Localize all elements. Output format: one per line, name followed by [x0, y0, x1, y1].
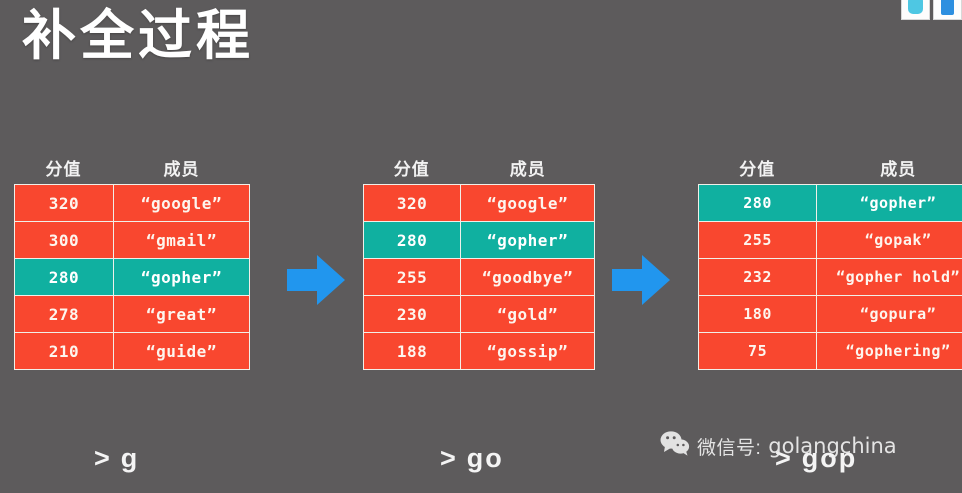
table-row[interactable]: 255 “goodbye” — [364, 259, 595, 296]
cell-score: 320 — [364, 185, 461, 222]
cell-score: 232 — [699, 259, 817, 296]
cell-member: “great” — [113, 296, 249, 333]
table-row[interactable]: 75 “gophering” — [699, 333, 962, 370]
cell-score: 320 — [15, 185, 114, 222]
cell-score: 180 — [699, 296, 817, 333]
table-row[interactable]: 210 “guide” — [15, 333, 250, 370]
table-row[interactable]: 320 “google” — [364, 185, 595, 222]
slide-canvas: 补全过程 分值 成员 320 “google” 300 “gmail” 280 — [0, 0, 962, 493]
table-row[interactable]: 230 “gold” — [364, 296, 595, 333]
table-row-highlighted[interactable]: 280 “gopher” — [364, 222, 595, 259]
result-panel-3: 分值 成员 280 “gopher” 255 “gopak” 232 “goph… — [698, 150, 962, 370]
cell-member: “gopak” — [817, 222, 962, 259]
column-headers: 分值 成员 — [14, 150, 250, 184]
cell-member: “gopher” — [113, 259, 249, 296]
cell-member: “gopher” — [461, 222, 595, 259]
column-headers: 分值 成员 — [363, 150, 595, 184]
table-row[interactable]: 300 “gmail” — [15, 222, 250, 259]
cell-member: “goodbye” — [461, 259, 595, 296]
query-text: g — [121, 443, 140, 473]
cell-score: 280 — [15, 259, 114, 296]
app-chip-glyph-blue — [941, 0, 954, 15]
wechat-account: golangchina — [768, 434, 896, 458]
column-header-member: 成员 — [113, 155, 250, 180]
cell-member: “google” — [113, 185, 249, 222]
prompt-chevron: > — [440, 443, 458, 473]
table-row[interactable]: 320 “google” — [15, 185, 250, 222]
cell-score: 75 — [699, 333, 817, 370]
column-header-member: 成员 — [460, 155, 595, 180]
table-row[interactable]: 232 “gopher hold” — [699, 259, 962, 296]
results-table: 320 “google” 280 “gopher” 255 “goodbye” … — [363, 184, 595, 370]
query-caption-2: >go — [440, 443, 504, 474]
wechat-watermark: 微信号: golangchina — [660, 430, 897, 462]
wechat-icon — [660, 430, 690, 462]
table-row-highlighted[interactable]: 280 “gopher” — [699, 185, 962, 222]
cell-score: 280 — [699, 185, 817, 222]
cell-member: “gophering” — [817, 333, 962, 370]
cell-score: 300 — [15, 222, 114, 259]
cell-member: “gopher” — [817, 185, 962, 222]
table-row[interactable]: 188 “gossip” — [364, 333, 595, 370]
column-header-score: 分值 — [14, 155, 113, 180]
table-row[interactable]: 180 “gopura” — [699, 296, 962, 333]
table-row[interactable]: 278 “great” — [15, 296, 250, 333]
column-header-score: 分值 — [363, 155, 460, 180]
cell-score: 255 — [364, 259, 461, 296]
column-header-score: 分值 — [698, 155, 816, 180]
column-headers: 分值 成员 — [698, 150, 962, 184]
cell-member: “guide” — [113, 333, 249, 370]
cell-member: “gossip” — [461, 333, 595, 370]
results-table: 320 “google” 300 “gmail” 280 “gopher” 27… — [14, 184, 250, 370]
cell-score: 188 — [364, 333, 461, 370]
table-row[interactable]: 255 “gopak” — [699, 222, 962, 259]
table-row-highlighted[interactable]: 280 “gopher” — [15, 259, 250, 296]
page-title: 补全过程 — [22, 2, 254, 70]
wechat-label: 微信号: — [697, 433, 761, 460]
cell-member: “google” — [461, 185, 595, 222]
arrow-right-icon-2 — [612, 253, 672, 307]
query-caption-1: >g — [94, 443, 139, 474]
result-panel-2: 分值 成员 320 “google” 280 “gopher” 255 “goo… — [363, 150, 595, 370]
prompt-chevron: > — [94, 443, 112, 473]
result-panel-1: 分值 成员 320 “google” 300 “gmail” 280 “goph… — [14, 150, 250, 370]
app-chip-glyph — [908, 0, 923, 14]
cell-member: “gopher hold” — [817, 259, 962, 296]
cell-score: 278 — [15, 296, 114, 333]
app-chip-icon[interactable] — [901, 0, 930, 20]
cell-member: “gmail” — [113, 222, 249, 259]
column-header-member: 成员 — [816, 155, 962, 180]
cell-member: “gopura” — [817, 296, 962, 333]
cell-score: 230 — [364, 296, 461, 333]
app-chip-icon-blue[interactable] — [933, 0, 962, 20]
results-table: 280 “gopher” 255 “gopak” 232 “gopher hol… — [698, 184, 962, 370]
cell-score: 210 — [15, 333, 114, 370]
cell-member: “gold” — [461, 296, 595, 333]
arrow-right-icon-1 — [287, 253, 347, 307]
topright-icon-strip — [901, 0, 962, 20]
cell-score: 255 — [699, 222, 817, 259]
query-text: go — [467, 443, 504, 473]
cell-score: 280 — [364, 222, 461, 259]
